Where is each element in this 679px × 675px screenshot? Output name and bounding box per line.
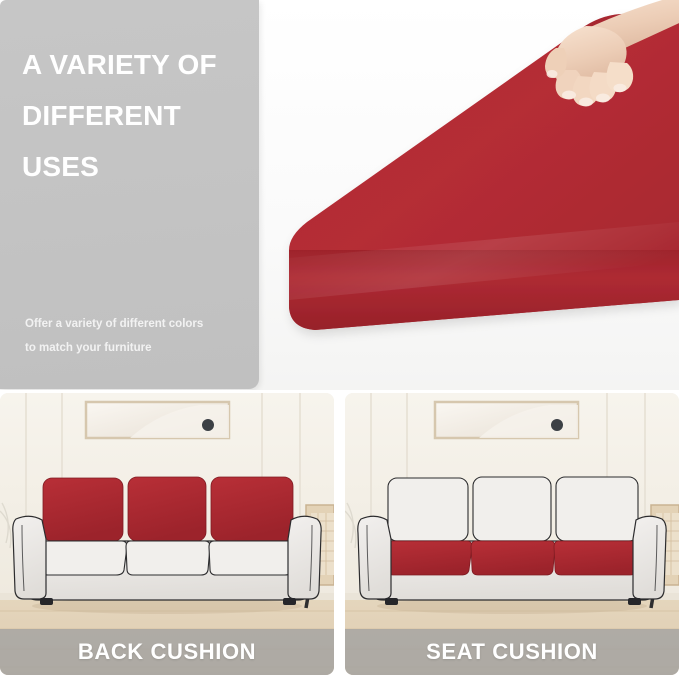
caption-bar-back-cushion: BACK CUSHION — [0, 629, 334, 675]
framed-abstract-art — [435, 402, 578, 438]
headline-line-3: USES — [22, 142, 246, 193]
headline-card: A VARIETY OF DIFFERENT USES Offer a vari… — [0, 0, 259, 389]
sofa — [13, 477, 321, 614]
sofa-leg-right — [628, 598, 641, 605]
sofa-arm-left — [13, 516, 46, 599]
framed-abstract-art — [86, 402, 229, 438]
sofa-leg-right — [283, 598, 296, 605]
sofa-arm-right — [633, 516, 666, 599]
subtext-line-2: to match your furniture — [25, 336, 245, 360]
back-cushions — [388, 477, 638, 541]
subtext-line-1: Offer a variety of different colors — [25, 312, 245, 336]
sofa-leg-left — [40, 598, 53, 605]
subtext: Offer a variety of different colors to m… — [25, 312, 245, 360]
headline: A VARIETY OF DIFFERENT USES — [22, 40, 246, 193]
panel-seat-cushion: SEAT CUSHION — [345, 393, 679, 675]
caption-label: SEAT CUSHION — [426, 639, 598, 665]
headline-line-2: DIFFERENT — [22, 91, 246, 142]
seat-cushions — [41, 541, 294, 575]
panel-back-cushion: BACK CUSHION — [0, 393, 334, 675]
sofa-arm-right — [288, 516, 321, 599]
sofa — [358, 477, 666, 614]
hero-section: A VARIETY OF DIFFERENT USES Offer a vari… — [0, 0, 679, 390]
comparison-panels: BACK CUSHION — [0, 393, 679, 675]
product-infographic: A VARIETY OF DIFFERENT USES Offer a vari… — [0, 0, 679, 675]
seat-cushions — [386, 541, 639, 575]
sofa-leg-left — [385, 598, 398, 605]
caption-bar-seat-cushion: SEAT CUSHION — [345, 629, 679, 675]
caption-label: BACK CUSHION — [78, 639, 256, 665]
headline-line-1: A VARIETY OF — [22, 40, 246, 91]
hand-pulling-fabric-icon — [540, 0, 679, 122]
sofa-arm-left — [358, 516, 391, 599]
back-cushions — [43, 477, 293, 541]
